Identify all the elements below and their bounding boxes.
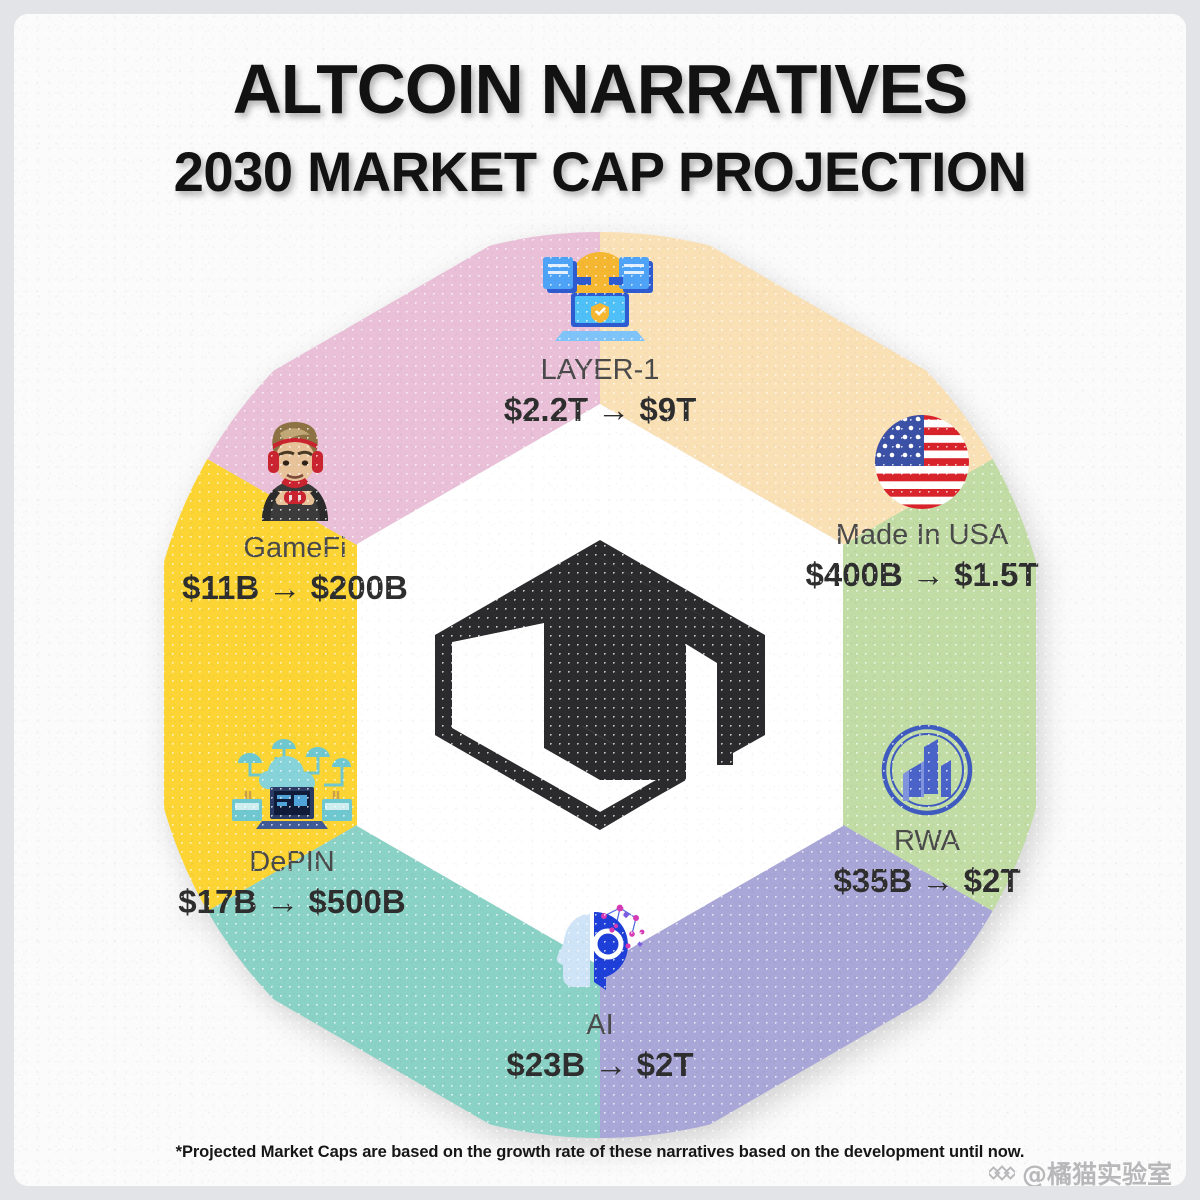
blockchain-nodes-laptop-icon [541, 247, 659, 347]
segment-value: $35B → $2T [777, 861, 1077, 901]
watermark: @橘猫实验室 [989, 1155, 1172, 1186]
segment-value: $400B → $1.5T [762, 555, 1082, 595]
infographic-card: ALTCOIN NARRATIVES 2030 MARKET CAP PROJE… [14, 14, 1186, 1186]
segment-name: GameFi [135, 533, 455, 565]
watermark-text: @橘猫实验室 [1022, 1155, 1172, 1186]
label-rwa: RWA $35B → $2T [777, 722, 1077, 900]
segment-value: $11B → $200B [135, 568, 455, 608]
page-title: ALTCOIN NARRATIVES [32, 54, 1169, 124]
segment-value: $2.2T → $9T [450, 390, 750, 430]
cloud-infrastructure-laptop-icon [228, 737, 356, 839]
label-depin: DePIN $17B → $500B [132, 737, 452, 921]
title-block: ALTCOIN NARRATIVES 2030 MARKET CAP PROJE… [14, 54, 1186, 200]
diamond-cluster-icon [989, 1160, 1015, 1186]
gamer-controller-avatar-icon [232, 417, 358, 525]
segment-value: $17B → $500B [132, 882, 452, 922]
segment-name: RWA [777, 826, 1077, 858]
segment-name: DePIN [132, 847, 452, 879]
segment-name: LAYER-1 [450, 355, 750, 387]
buildings-circle-icon [879, 722, 975, 818]
label-layer1: LAYER-1 $2.2T → $9T [450, 247, 750, 429]
ai-head-neural-network-icon [546, 902, 654, 1002]
infographic-page: ALTCOIN NARRATIVES 2030 MARKET CAP PROJE… [0, 0, 1200, 1200]
segment-value: $23B → $2T [450, 1045, 750, 1085]
label-made-in-usa: Made In USA $400B → $1.5T [762, 412, 1082, 594]
page-subtitle: 2030 MARKET CAP PROJECTION [32, 144, 1169, 200]
segment-name: AI [450, 1010, 750, 1042]
label-gamefi: GameFi $11B → $200B [135, 417, 455, 607]
usa-flag-circle-icon [872, 412, 972, 512]
segment-name: Made In USA [762, 520, 1082, 552]
narratives-wheel: LAYER-1 $2.2T → $9T [147, 232, 1053, 1138]
label-ai: AI $23B → $2T [450, 902, 750, 1084]
